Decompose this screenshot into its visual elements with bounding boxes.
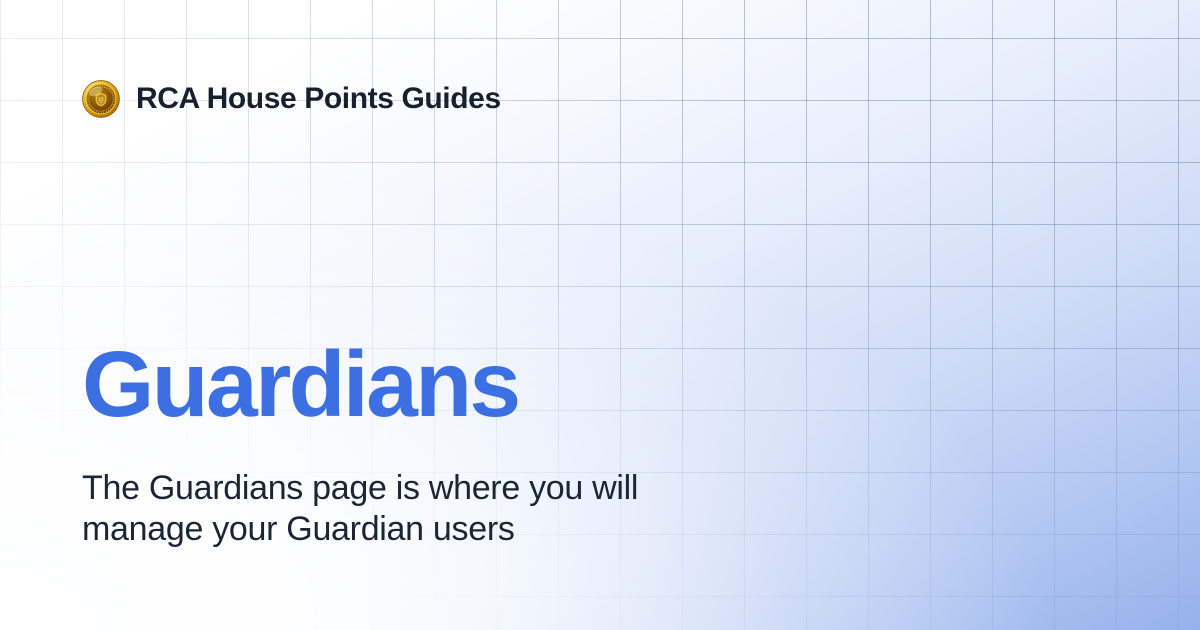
page-title: Guardians: [82, 338, 519, 431]
brand-title: RCA House Points Guides: [136, 84, 501, 114]
gold-medal-seal-icon: [82, 80, 120, 118]
page-subtitle-line-1: The Guardians page is where you will: [82, 468, 782, 509]
brand: RCA House Points Guides: [82, 80, 501, 118]
og-card: RCA House Points Guides Guardians The Gu…: [0, 0, 1200, 630]
page-subtitle-line-2: manage your Guardian users: [82, 509, 782, 550]
page-subtitle: The Guardians page is where you will man…: [82, 468, 782, 551]
card-content: RCA House Points Guides Guardians The Gu…: [0, 0, 1200, 630]
